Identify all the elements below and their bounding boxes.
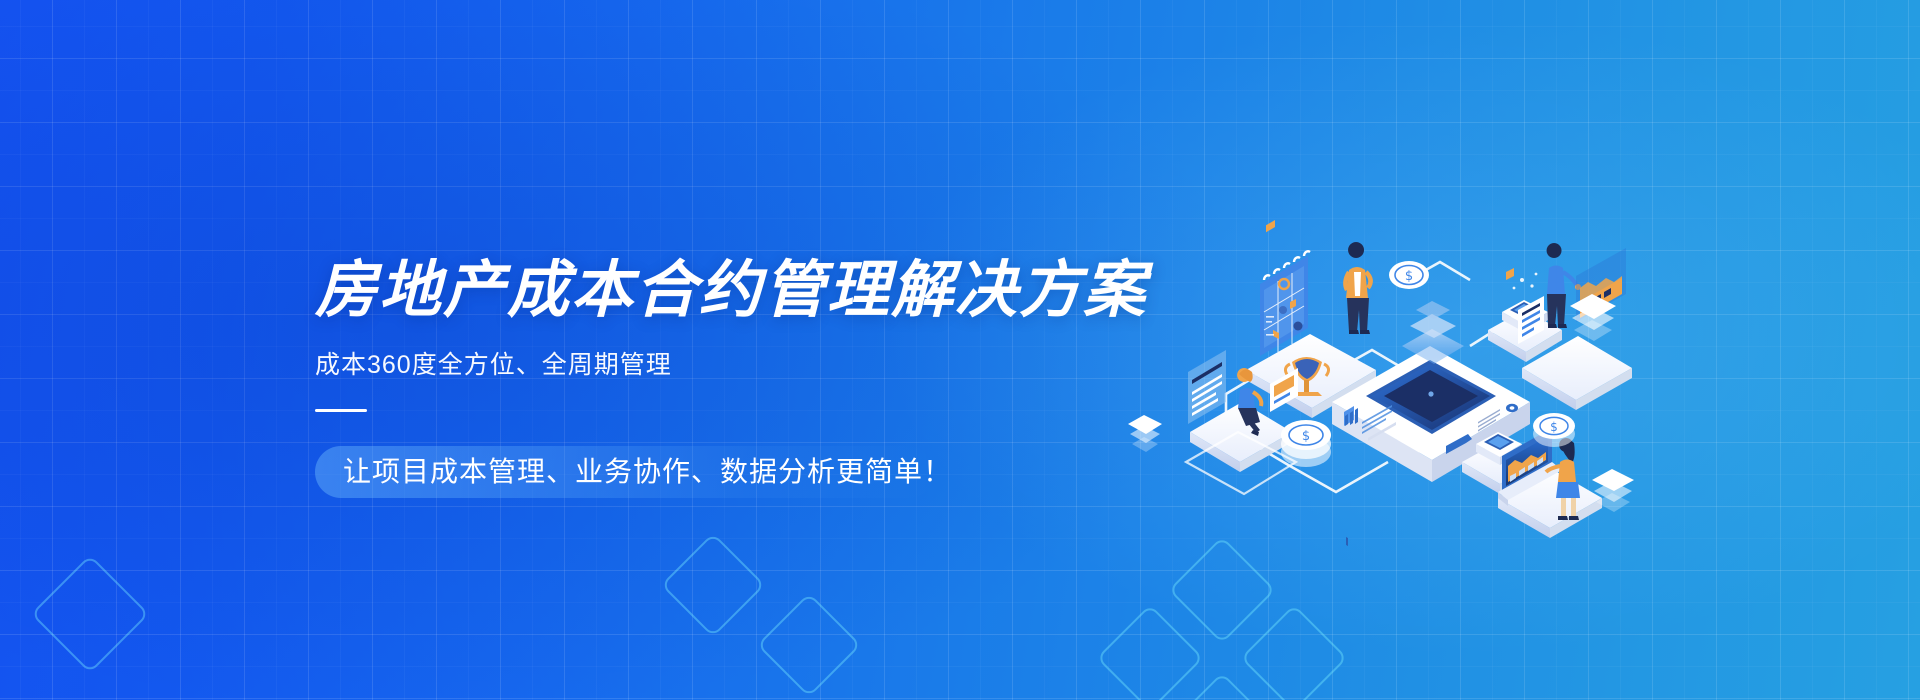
standing-man-presenter (1345, 242, 1370, 334)
document-screen-left (1188, 350, 1226, 424)
svg-text:$: $ (1550, 420, 1558, 434)
page-title: 房地产成本合约管理解决方案 (315, 258, 1147, 323)
page-subtitle: 成本360度全方位、全周期管理 (315, 345, 1147, 381)
calendar-board (1260, 220, 1310, 356)
hero-illustration: $ (1140, 180, 1620, 520)
title-underline (315, 409, 367, 412)
coin-badge-lower-right: $ (1533, 413, 1575, 447)
svg-text:$: $ (1302, 429, 1310, 444)
hero-text-block: 房地产成本合约管理解决方案 成本360度全方位、全周期管理 让项目成本管理、业务… (315, 258, 1147, 498)
coin-badge: $ (1389, 261, 1429, 289)
tagline-text: 让项目成本管理、业务协作、数据分析更简单！ (343, 446, 952, 498)
man-with-chart-screen (1547, 243, 1581, 328)
hero-banner: $ (0, 0, 1920, 700)
tagline-pill: 让项目成本管理、业务协作、数据分析更简单！ (315, 446, 1147, 498)
svg-text:$: $ (1405, 269, 1413, 284)
seated-woman-platform (1186, 402, 1296, 494)
coin-stack: $ (1281, 420, 1331, 467)
